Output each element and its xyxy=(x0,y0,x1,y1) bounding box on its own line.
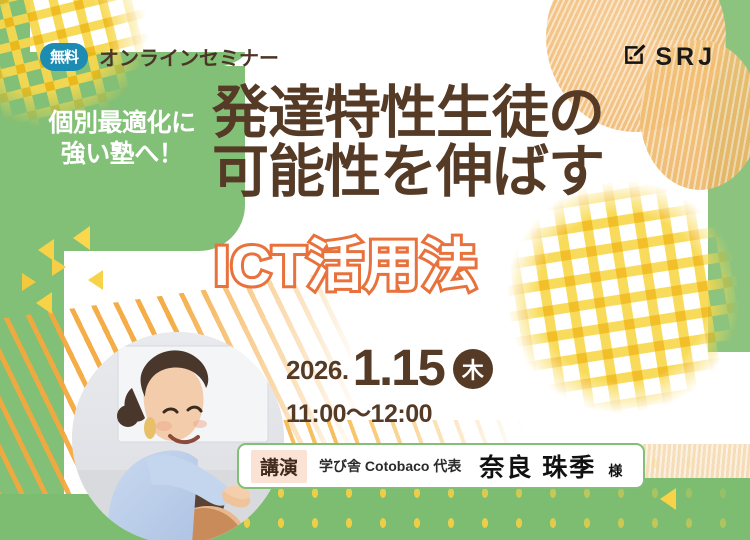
seminar-header-row: 無料 オンラインセミナー xyxy=(40,42,279,71)
logo-text: SRJ xyxy=(655,43,716,72)
date-year: 2026. xyxy=(286,355,349,392)
subtitle-ict: ICT活用法 xyxy=(214,238,478,294)
schedule-block: 2026. 1.15 木 11:00〜12:00 xyxy=(286,344,493,430)
green-right-band-top xyxy=(654,0,750,40)
speaker-name: 奈良 珠季 xyxy=(479,448,596,484)
seminar-banner: 無料 オンラインセミナー SRJ 個別最適化に 強い塾へ！ 発達特性生徒の 可能… xyxy=(0,0,750,540)
speaker-honorific: 様 xyxy=(608,461,622,487)
speaker-photo xyxy=(72,332,284,540)
speaker-bar: 講演 学び舎 Cotobaco 代表 奈良 珠季 様 xyxy=(237,443,645,489)
speaker-tag: 講演 xyxy=(251,450,307,483)
yellow-triangle-8 xyxy=(660,488,676,510)
yellow-triangle-6 xyxy=(36,292,52,314)
catch-copy: 個別最適化に 強い塾へ！ xyxy=(24,108,220,170)
seminar-label: オンラインセミナー xyxy=(99,42,279,71)
catch-copy-line1: 個別最適化に xyxy=(24,108,220,139)
date-day: 1.15 xyxy=(353,344,444,392)
yellow-triangle-2 xyxy=(73,226,90,250)
yellow-checker-pattern-right xyxy=(491,165,750,428)
free-badge: 無料 xyxy=(40,43,88,71)
yellow-triangle-4 xyxy=(88,270,103,290)
catch-copy-line2: 強い塾へ！ xyxy=(24,139,220,170)
headline-line1: 発達特性生徒の xyxy=(212,84,712,143)
yellow-triangle-5 xyxy=(22,273,36,291)
speaker-organization: 学び舎 Cotobaco 代表 xyxy=(319,456,461,476)
srj-logo: SRJ xyxy=(622,42,716,72)
headline: 発達特性生徒の 可能性を伸ばす xyxy=(212,84,712,201)
yellow-triangle-3 xyxy=(52,258,66,276)
date-line: 2026. 1.15 木 xyxy=(286,344,493,392)
date-day-of-week: 木 xyxy=(453,349,493,389)
date-time: 11:00〜12:00 xyxy=(286,394,493,430)
pencil-square-icon xyxy=(622,42,647,72)
headline-line2: 可能性を伸ばす xyxy=(212,143,712,202)
